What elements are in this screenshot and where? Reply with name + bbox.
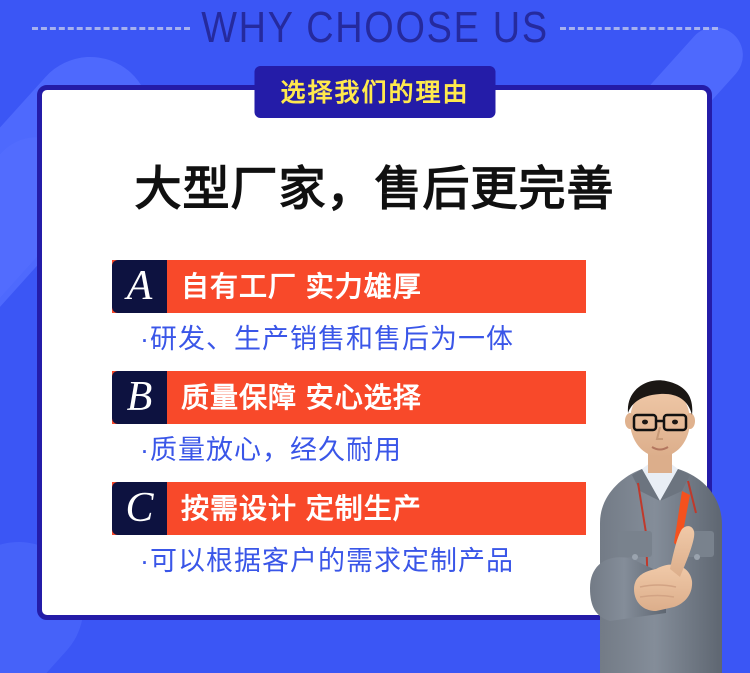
- feature-title-a: 自有工厂 实力雄厚: [167, 260, 422, 313]
- feature-letter-b: B: [112, 371, 167, 424]
- panel-title: 大型厂家，售后更完善: [42, 150, 707, 219]
- feature-subtitle-a: ·研发、生产销售和售后为一体: [112, 313, 652, 367]
- eye-right: [672, 420, 678, 425]
- feature-title-c: 按需设计 定制生产: [167, 482, 422, 535]
- english-headline: WHY CHOOSE US: [53, 6, 698, 50]
- feature-bar-c: C 按需设计 定制生产: [112, 482, 586, 535]
- feature-title-b: 质量保障 安心选择: [167, 371, 422, 424]
- feature-letter-c: C: [112, 482, 167, 535]
- feature-item-a: A 自有工厂 实力雄厚 ·研发、生产销售和售后为一体: [112, 260, 652, 367]
- feature-bar-b: B 质量保障 安心选择: [112, 371, 586, 424]
- why-choose-us-banner: WHY CHOOSE US 选择我们的理由 大型厂家，售后更完善 A 自有工厂 …: [0, 0, 750, 673]
- pocket-button-right: [694, 554, 700, 560]
- worker-thumbs-up-photo: [570, 363, 750, 673]
- feature-bar-a: A 自有工厂 实力雄厚: [112, 260, 586, 313]
- feature-letter-a: A: [112, 260, 167, 313]
- pocket-button-left: [632, 554, 638, 560]
- chest-pocket-left: [618, 531, 652, 557]
- section-badge: 选择我们的理由: [254, 66, 495, 118]
- eye-left: [642, 420, 648, 425]
